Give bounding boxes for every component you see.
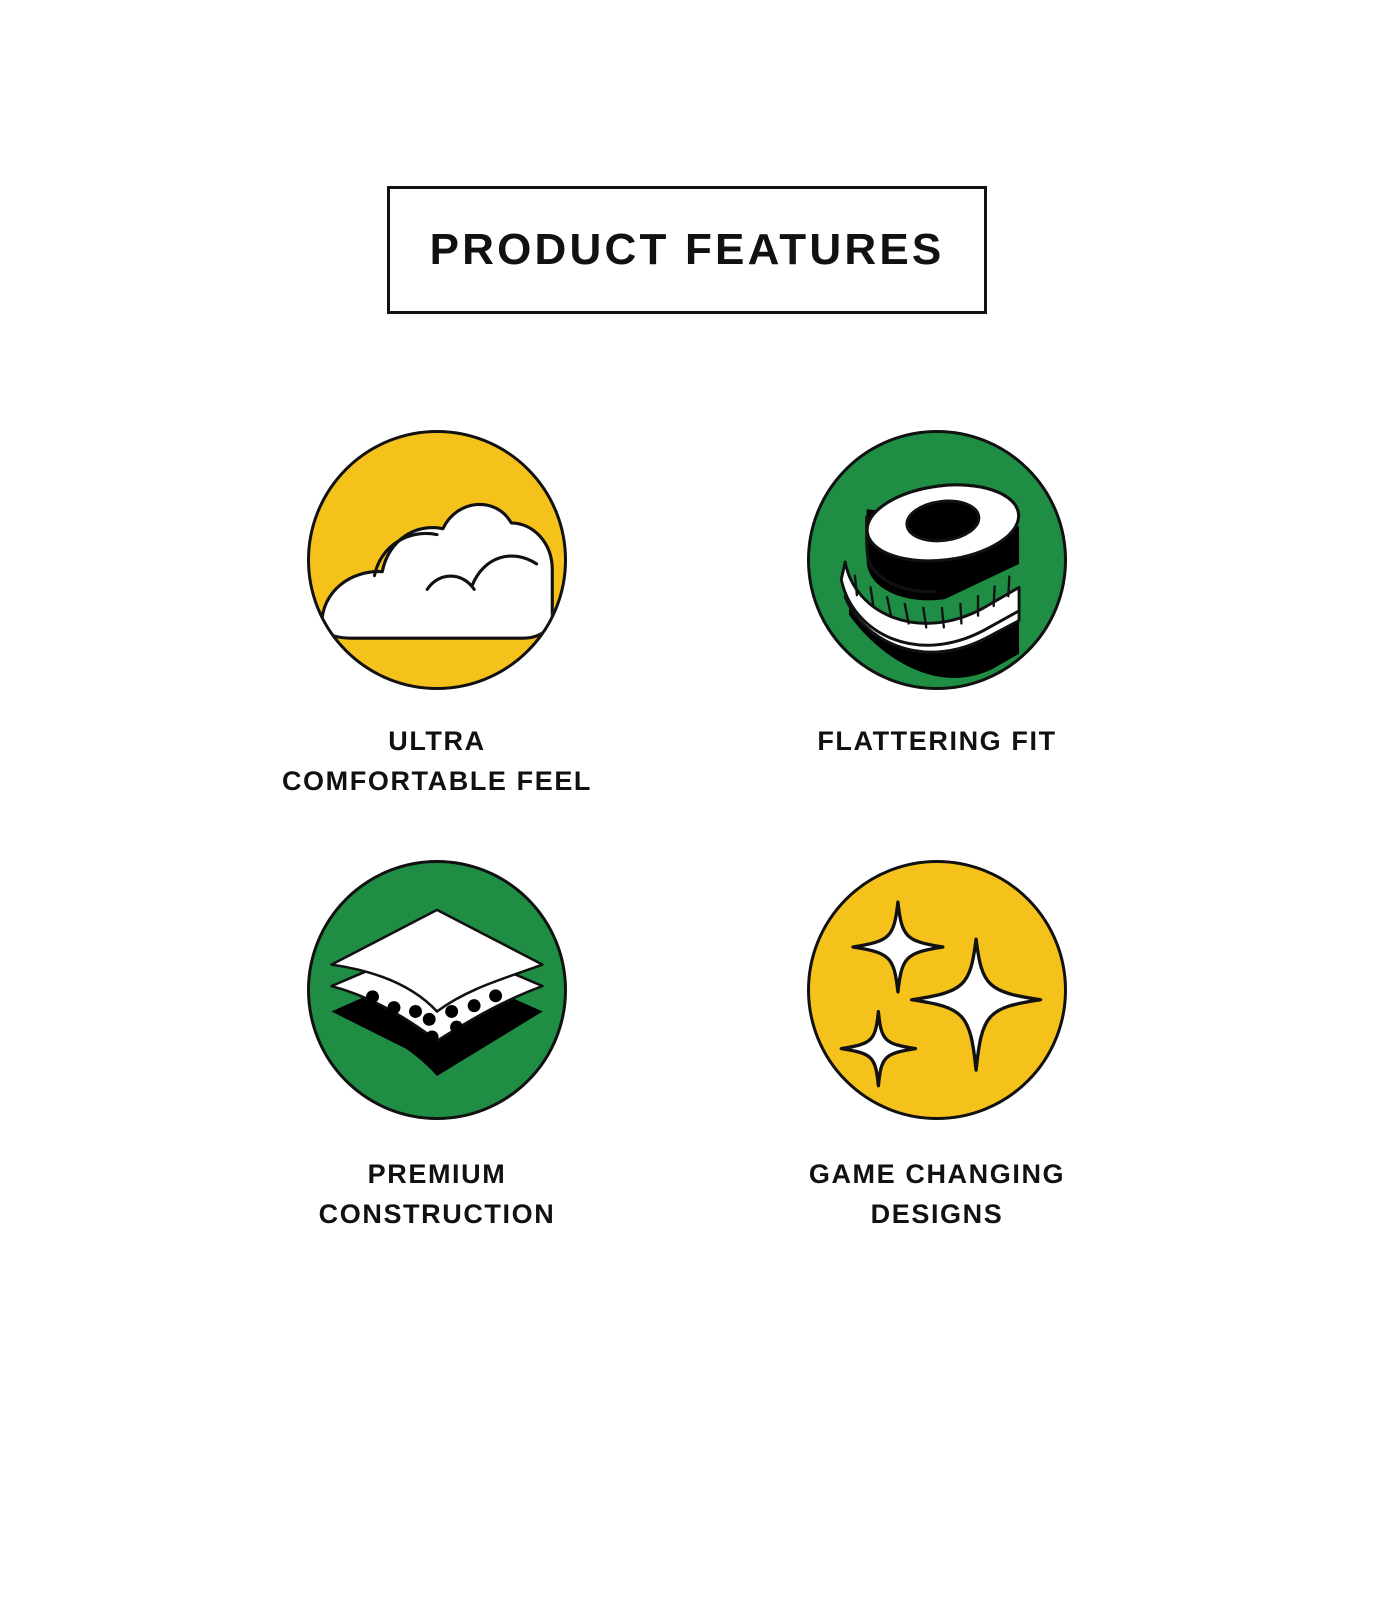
- page-title-container: PRODUCT FEATURES: [0, 186, 1374, 314]
- feature-label: ULTRA COMFORTABLE FEEL: [272, 721, 602, 801]
- cloud-icon: [310, 433, 564, 687]
- feature-row-bottom: PREMIUM CONSTRUCTION GAME CHANGING DESIG…: [187, 860, 1187, 1234]
- feature-item-ultra-comfortable-feel[interactable]: ULTRA COMFORTABLE FEEL: [187, 430, 687, 801]
- product-features-page: PRODUCT FEATURES: [0, 0, 1374, 1603]
- page-title-box: PRODUCT FEATURES: [387, 186, 987, 314]
- feature-badge-green: [307, 860, 567, 1120]
- sparkles-icon: [810, 863, 1064, 1117]
- feature-row-top: ULTRA COMFORTABLE FEEL: [187, 430, 1187, 801]
- feature-label: GAME CHANGING DESIGNS: [757, 1154, 1117, 1234]
- feature-label: PREMIUM CONSTRUCTION: [262, 1154, 612, 1234]
- feature-badge-green: [807, 430, 1067, 690]
- page-title: PRODUCT FEATURES: [430, 228, 945, 272]
- feature-grid: ULTRA COMFORTABLE FEEL: [187, 430, 1187, 1234]
- feature-item-premium-construction[interactable]: PREMIUM CONSTRUCTION: [187, 860, 687, 1234]
- feature-item-game-changing-designs[interactable]: GAME CHANGING DESIGNS: [687, 860, 1187, 1234]
- feature-item-flattering-fit[interactable]: FLATTERING FIT: [687, 430, 1187, 801]
- layers-icon: [310, 863, 564, 1117]
- feature-badge-yellow: [807, 860, 1067, 1120]
- feature-label: FLATTERING FIT: [817, 721, 1056, 761]
- feature-badge-yellow: [307, 430, 567, 690]
- measuring-tape-icon: [810, 433, 1064, 687]
